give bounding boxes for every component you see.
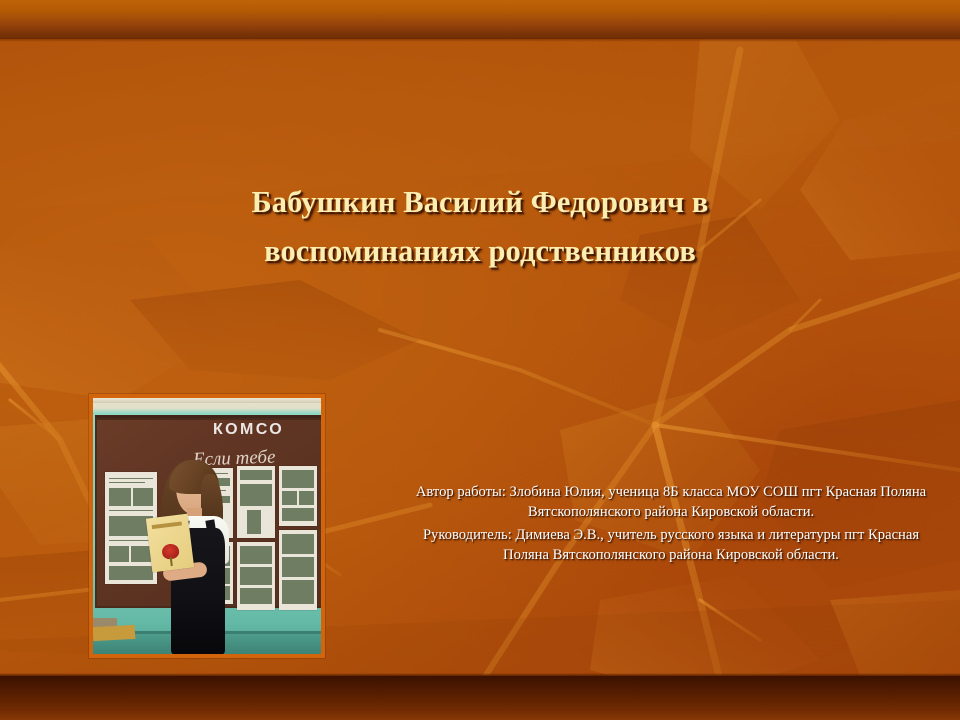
slide-body-text: Автор работы: Злобина Юлия, ученица 8Б к… xyxy=(410,483,932,565)
board-poster xyxy=(279,530,317,610)
classroom-desk xyxy=(93,625,135,641)
supervisor-credit: Руководитель: Димиева Э.В., учитель русс… xyxy=(410,526,932,565)
student-photo: КОМСО Если тебе xyxy=(89,394,325,658)
author-credit: Автор работы: Злобина Юлия, ученица 8Б к… xyxy=(410,483,932,522)
held-book xyxy=(146,514,194,573)
wall-upper-strip xyxy=(93,398,321,403)
top-band-edge xyxy=(0,39,960,42)
student-figure xyxy=(145,442,249,654)
bottom-decorative-band xyxy=(0,676,960,720)
slide-title-line-2: воспоминаниях родственников xyxy=(62,227,898,276)
board-poster xyxy=(279,466,317,526)
slide-title-line-1: Бабушкин Василий Федорович в xyxy=(62,178,898,227)
presentation-slide: Бабушкин Василий Федорович в воспоминани… xyxy=(0,0,960,720)
bottom-band-edge xyxy=(0,673,960,676)
board-heading-text: КОМСО xyxy=(213,421,284,439)
top-decorative-band xyxy=(0,0,960,39)
slide-title: Бабушкин Василий Федорович в воспоминани… xyxy=(62,178,898,276)
book-title-bar xyxy=(152,521,182,529)
photo-content: КОМСО Если тебе xyxy=(93,398,321,654)
